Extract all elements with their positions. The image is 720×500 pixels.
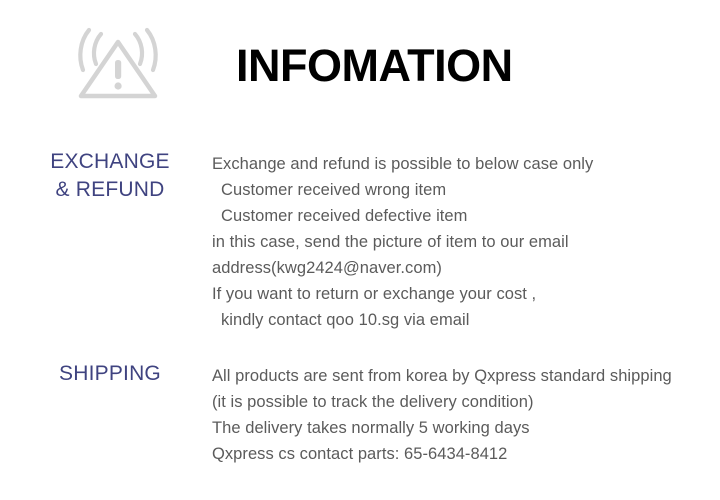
- body-line: The delivery takes normally 5 working da…: [212, 415, 692, 441]
- information-page: INFOMATION EXCHANGE & REFUND Exchange an…: [0, 0, 720, 500]
- section-label-line: SHIPPING: [20, 360, 200, 388]
- section-label-line: & REFUND: [20, 176, 200, 204]
- body-line: Customer received defective item: [212, 203, 692, 229]
- page-title: INFOMATION: [236, 40, 513, 92]
- body-line: All products are sent from korea by Qxpr…: [212, 363, 692, 389]
- page-header: INFOMATION: [0, 0, 720, 135]
- section-label-line: EXCHANGE: [20, 148, 200, 176]
- body-line: (it is possible to track the delivery co…: [212, 389, 692, 415]
- body-line-phone: Qxpress cs contact parts: 65-6434-8412: [212, 441, 692, 467]
- body-line-email: address(kwg2424@naver.com): [212, 255, 692, 281]
- body-line: Customer received wrong item: [212, 177, 692, 203]
- section-label-exchange-refund: EXCHANGE & REFUND: [20, 148, 200, 204]
- body-line: in this case, send the picture of item t…: [212, 229, 692, 255]
- body-line: Exchange and refund is possible to below…: [212, 151, 692, 177]
- section-label-shipping: SHIPPING: [20, 360, 200, 388]
- warning-signal-icon: [74, 26, 162, 102]
- section-body-shipping: All products are sent from korea by Qxpr…: [212, 363, 692, 467]
- body-line: kindly contact qoo 10.sg via email: [212, 307, 692, 333]
- body-line: If you want to return or exchange your c…: [212, 281, 692, 307]
- section-body-exchange-refund: Exchange and refund is possible to below…: [212, 151, 692, 333]
